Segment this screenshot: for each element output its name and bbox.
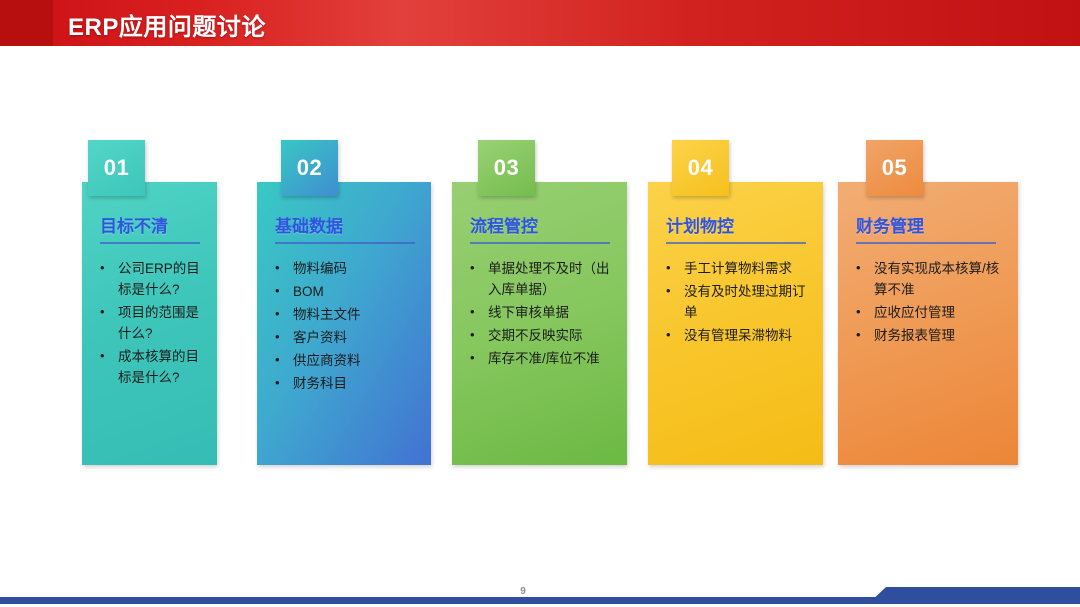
list-item: 财务科目 [269, 373, 423, 394]
list-item: 没有实现成本核算/核算不准 [850, 258, 1010, 300]
list-item: 公司ERP的目标是什么? [94, 258, 209, 300]
card-number-badge-01: 01 [88, 140, 145, 196]
card-bullet-list: 单据处理不及时（出入库单据） 线下审核单据 交期不反映实际 库存不准/库位不准 [464, 258, 619, 371]
card-title: 流程管控 [470, 212, 538, 237]
list-item: 财务报表管理 [850, 325, 1010, 346]
list-item: 线下审核单据 [464, 302, 619, 323]
list-item: BOM [269, 281, 423, 302]
card-bullet-list: 手工计算物料需求 没有及时处理过期订单 没有管理呆滞物料 [660, 258, 815, 348]
card-number-badge-04: 04 [672, 140, 729, 196]
list-item: 物料主文件 [269, 304, 423, 325]
card-title: 基础数据 [275, 212, 343, 237]
list-item: 没有及时处理过期订单 [660, 281, 815, 323]
card-bullet-list: 公司ERP的目标是什么? 项目的范围是什么? 成本核算的目标是什么? [94, 258, 209, 390]
card-divider [100, 242, 200, 244]
list-item: 手工计算物料需求 [660, 258, 815, 279]
list-item: 物料编码 [269, 258, 423, 279]
list-item: 应收应付管理 [850, 302, 1010, 323]
card-divider [856, 242, 996, 244]
list-item: 单据处理不及时（出入库单据） [464, 258, 619, 300]
card-04[interactable]: 计划物控 手工计算物料需求 没有及时处理过期订单 没有管理呆滞物料 [648, 182, 823, 465]
card-divider [666, 242, 806, 244]
card-number-badge-05: 05 [866, 140, 923, 196]
card-number-badge-02: 02 [281, 140, 338, 196]
list-item: 没有管理呆滞物料 [660, 325, 815, 346]
card-bullet-list: 物料编码 BOM 物料主文件 客户资料 供应商资料 财务科目 [269, 258, 423, 396]
list-item: 供应商资料 [269, 350, 423, 371]
card-01[interactable]: 目标不清 公司ERP的目标是什么? 项目的范围是什么? 成本核算的目标是什么? [82, 182, 217, 465]
cards-board: 目标不清 公司ERP的目标是什么? 项目的范围是什么? 成本核算的目标是什么? … [0, 0, 1080, 607]
card-divider [470, 242, 610, 244]
list-item: 库存不准/库位不准 [464, 348, 619, 369]
card-title: 计划物控 [666, 212, 734, 237]
card-bullet-list: 没有实现成本核算/核算不准 应收应付管理 财务报表管理 [850, 258, 1010, 348]
card-05[interactable]: 财务管理 没有实现成本核算/核算不准 应收应付管理 财务报表管理 [838, 182, 1018, 465]
card-03[interactable]: 流程管控 单据处理不及时（出入库单据） 线下审核单据 交期不反映实际 库存不准/… [452, 182, 627, 465]
list-item: 成本核算的目标是什么? [94, 346, 209, 388]
list-item: 客户资料 [269, 327, 423, 348]
list-item: 交期不反映实际 [464, 325, 619, 346]
page-number: 9 [508, 586, 538, 597]
card-divider [275, 242, 415, 244]
card-title: 财务管理 [856, 212, 924, 237]
card-02[interactable]: 基础数据 物料编码 BOM 物料主文件 客户资料 供应商资料 财务科目 [257, 182, 431, 465]
card-title: 目标不清 [100, 212, 168, 237]
card-number-badge-03: 03 [478, 140, 535, 196]
list-item: 项目的范围是什么? [94, 302, 209, 344]
